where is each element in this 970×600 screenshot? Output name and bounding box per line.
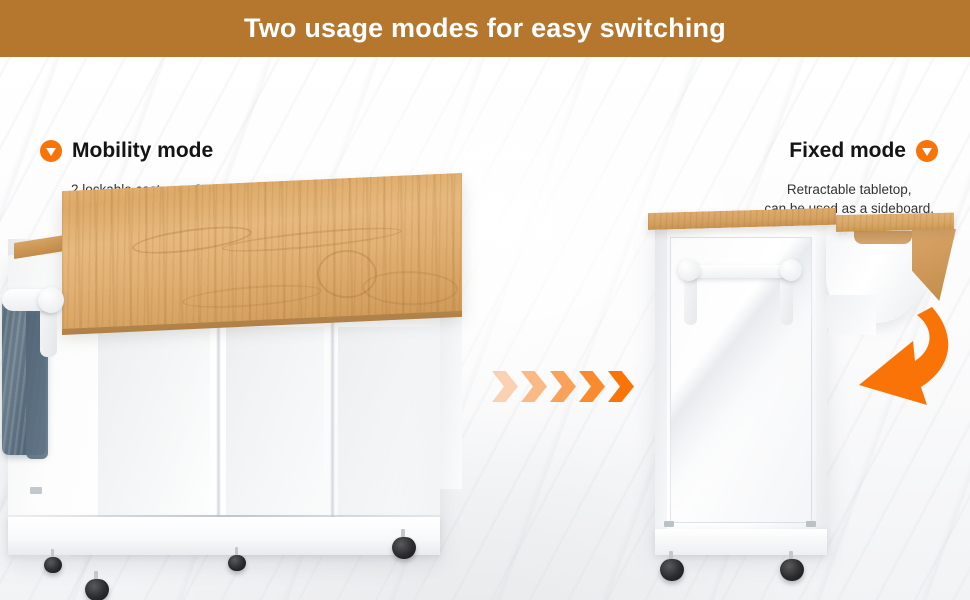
- cart-left-towel-bar-knob: [38, 287, 64, 313]
- chevron-right-icon: [521, 371, 547, 402]
- cart-right-towel-bar: [686, 265, 794, 278]
- cart-right-brand-tag: [806, 521, 816, 527]
- wood-grain-mark: [361, 270, 459, 306]
- wood-grain-mark: [131, 221, 252, 259]
- triangle-down-icon: [40, 140, 62, 162]
- wood-grain-mark: [222, 223, 403, 257]
- cart-right-plinth: [655, 529, 827, 555]
- fixed-mode-product-image: [640, 191, 970, 600]
- cart-right-towel-bar-arm-left: [684, 279, 697, 325]
- cart-left-plinth: [8, 517, 440, 555]
- page-title: Two usage modes for easy switching: [244, 13, 726, 44]
- chevron-right-icon: [550, 371, 576, 402]
- header-banner: Two usage modes for easy switching: [0, 0, 970, 57]
- chevron-right-icon: [492, 371, 518, 402]
- transition-arrows: [492, 371, 634, 402]
- cart-right-frame-left: [655, 221, 667, 551]
- cart-right-towel-bar-arm-right: [780, 279, 793, 325]
- chevron-right-icon: [608, 371, 634, 402]
- cart-right-leaf-handle-notch: [854, 231, 912, 244]
- wood-grain-mark: [182, 281, 323, 312]
- fixed-mode-title: Fixed mode: [789, 139, 906, 163]
- cart-left-bay-3: [338, 327, 440, 543]
- mobility-mode-heading: Mobility mode: [40, 139, 292, 163]
- cart-right-towel-bar-knob-left: [678, 259, 700, 281]
- cart-right-towel-bar-knob-right: [780, 259, 802, 281]
- mobility-mode-product-image: [0, 191, 500, 600]
- cart-left-bay-1: [98, 327, 210, 543]
- content-stage: Mobility mode 2 lockable casters + 3 swi…: [0, 57, 970, 600]
- infographic-page: Two usage modes for easy switching Mobil…: [0, 0, 970, 600]
- fixed-mode-heading: Fixed mode: [764, 139, 938, 163]
- cart-right-folded-wood-leaf: [836, 213, 954, 232]
- curved-down-left-arrow-icon: [835, 301, 965, 421]
- triangle-down-icon: [916, 140, 938, 162]
- cart-left-bay-2: [226, 327, 324, 543]
- cart-right-brand-tag: [664, 521, 674, 527]
- cart-left-wood-tabletop: [62, 173, 462, 329]
- chevron-right-icon: [579, 371, 605, 402]
- cart-left-towel-bar-arm: [40, 307, 57, 357]
- mobility-mode-title: Mobility mode: [72, 139, 213, 163]
- cart-left-brand-tag: [30, 487, 42, 494]
